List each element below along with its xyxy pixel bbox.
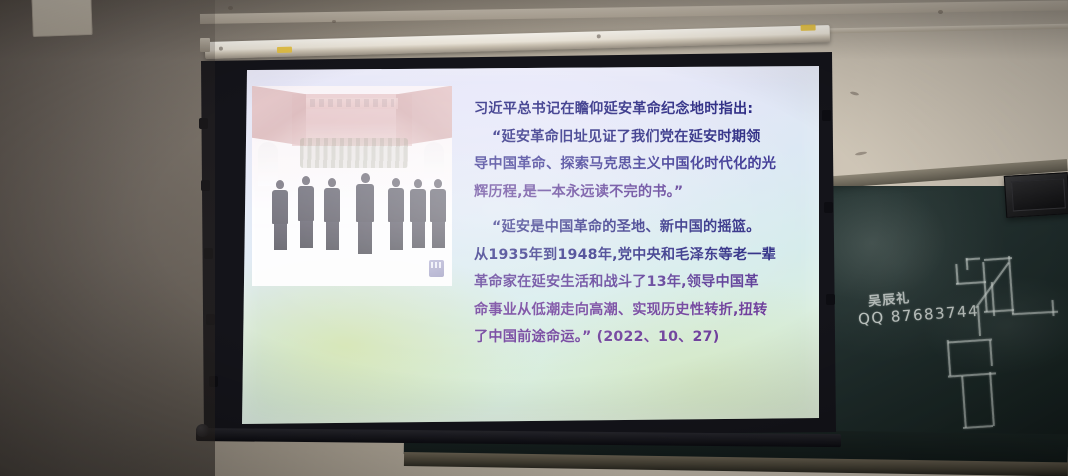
photo-banner-text (310, 99, 394, 107)
wall-speck (332, 20, 336, 23)
photo-figure (298, 176, 314, 248)
blackboard-surface (812, 186, 1068, 465)
slide-line: “延安革命旧址见证了我们党在延安时期领 (474, 124, 804, 152)
classroom-scene: 吴辰礼 QQ 87683744 (0, 0, 1068, 476)
speaker-grille (1011, 178, 1066, 211)
wall-speck (938, 10, 943, 14)
slide-photo (252, 86, 452, 286)
wall-speck (228, 6, 233, 10)
photo-figure (272, 180, 288, 250)
screen-tension-tab (822, 110, 831, 121)
photo-watermark-logo (429, 260, 444, 277)
slide-text-block: 习近平总书记在瞻仰延安革命纪念地时指出: “延安革命旧址见证了我们党在延安时期领… (474, 96, 804, 352)
slide-line: 习近平总书记在瞻仰延安革命纪念地时指出: (474, 96, 804, 124)
slide-line: 辉历程,是一本永远读不完的书。” (474, 179, 804, 207)
slide-line-citation: 了中国前途命运。” (2022、10、27) (474, 324, 804, 352)
blackboard-chalk-haze (812, 186, 1068, 465)
wall-speaker (1004, 172, 1068, 218)
slide-line: 革命家在延安生活和战斗了13年,领导中国革 (474, 269, 804, 297)
projection-screen[interactable]: 习近平总书记在瞻仰延安革命纪念地时指出: “延安革命旧址见证了我们党在延安时期领… (186, 52, 836, 438)
screen-tension-tab (826, 294, 835, 305)
roller-screw (597, 34, 601, 38)
slide-line: 导中国革命、探索马克思主义中国化时代化的光 (474, 151, 804, 179)
photo-figure (410, 179, 426, 248)
photo-figure-center (356, 173, 374, 254)
wall-left-shadow (0, 0, 215, 476)
slide-line: 从1935年到1948年,党中央和毛泽东等老一辈 (474, 242, 804, 270)
slide-line: 命事业从低潮走向高潮、实现历史性转折,扭转 (474, 297, 804, 325)
roller-label-tag (801, 24, 816, 30)
powerpoint-slide: 习近平总书记在瞻仰延安革命纪念地时指出: “延安革命旧址见证了我们党在延安时期领… (242, 66, 819, 424)
screen-tension-tab (824, 202, 833, 213)
photo-greenery (300, 138, 408, 168)
roller-screw (219, 47, 223, 51)
slide-line: “延安是中国革命的圣地、新中国的摇篮。 (474, 214, 804, 242)
photo-figure (430, 179, 446, 248)
photo-figure (324, 178, 340, 250)
photo-figure (388, 178, 404, 250)
photo-left-relief-wall (252, 86, 306, 146)
